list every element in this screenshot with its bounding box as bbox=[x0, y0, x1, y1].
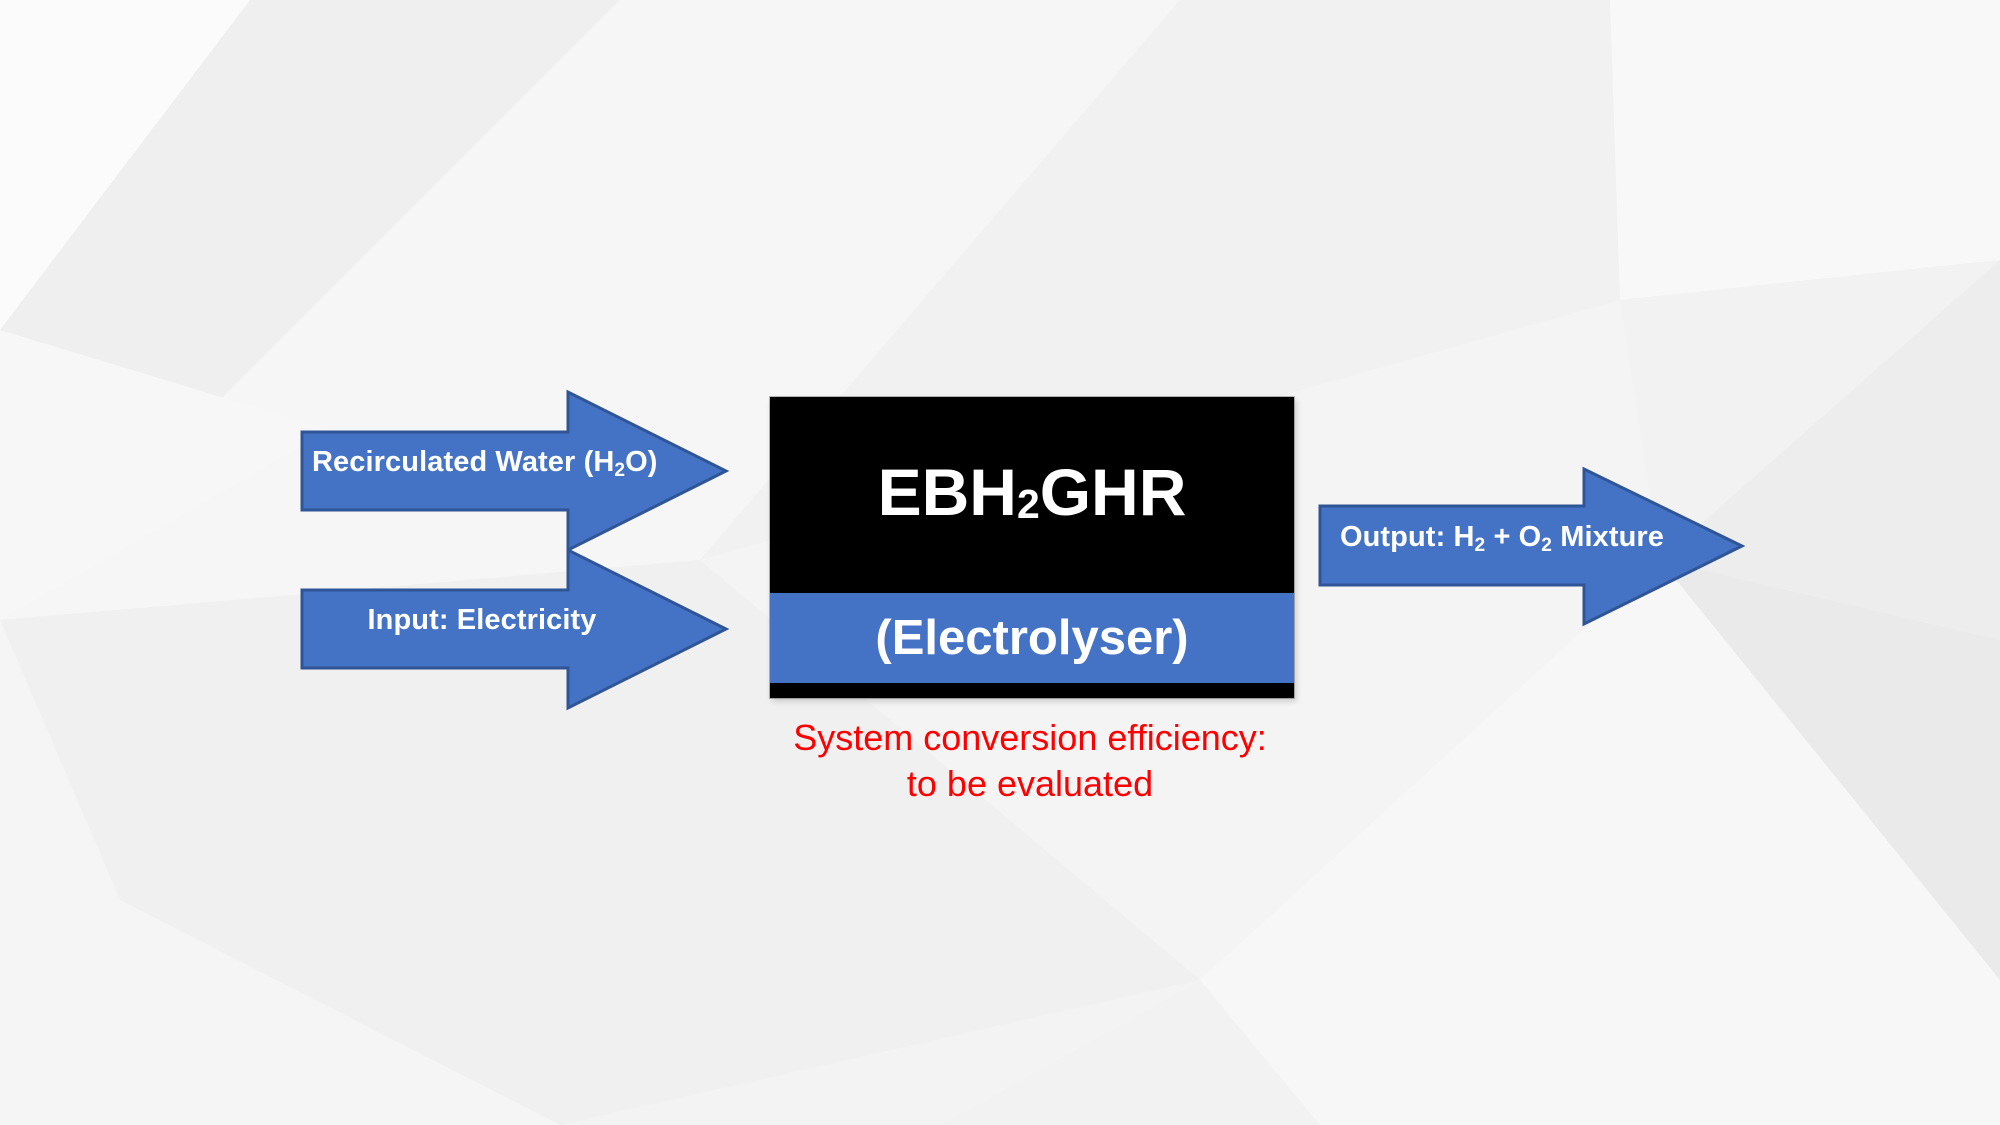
input-arrow-recirculated-water-label: Recirculated Water (H2O) bbox=[312, 448, 652, 477]
output-arrow-label: Output: H2 + O2 Mixture bbox=[1332, 523, 1672, 552]
output-arrow-h2-o2-mixture[interactable]: Output: H2 + O2 Mixture bbox=[1318, 466, 1746, 628]
input-arrow-electricity[interactable]: Input: Electricity bbox=[300, 546, 730, 712]
electrolyser-unit-box[interactable]: EBH2 GHR (Electrolyser) bbox=[770, 397, 1294, 698]
input-arrow-electricity-label: Input: Electricity bbox=[312, 606, 652, 635]
efficiency-note-line-1: System conversion efficiency: bbox=[700, 715, 1360, 761]
efficiency-note-line-2: to be evaluated bbox=[700, 761, 1360, 807]
slide-canvas: Recirculated Water (H2O) Input: Electric… bbox=[0, 0, 2000, 1125]
unit-title: EBH2 GHR bbox=[770, 397, 1294, 593]
efficiency-note: System conversion efficiency: to be eval… bbox=[700, 715, 1360, 807]
input-arrow-recirculated-water[interactable]: Recirculated Water (H2O) bbox=[300, 388, 730, 554]
unit-subtitle: (Electrolyser) bbox=[770, 593, 1294, 683]
unit-footer-strip bbox=[770, 683, 1294, 698]
